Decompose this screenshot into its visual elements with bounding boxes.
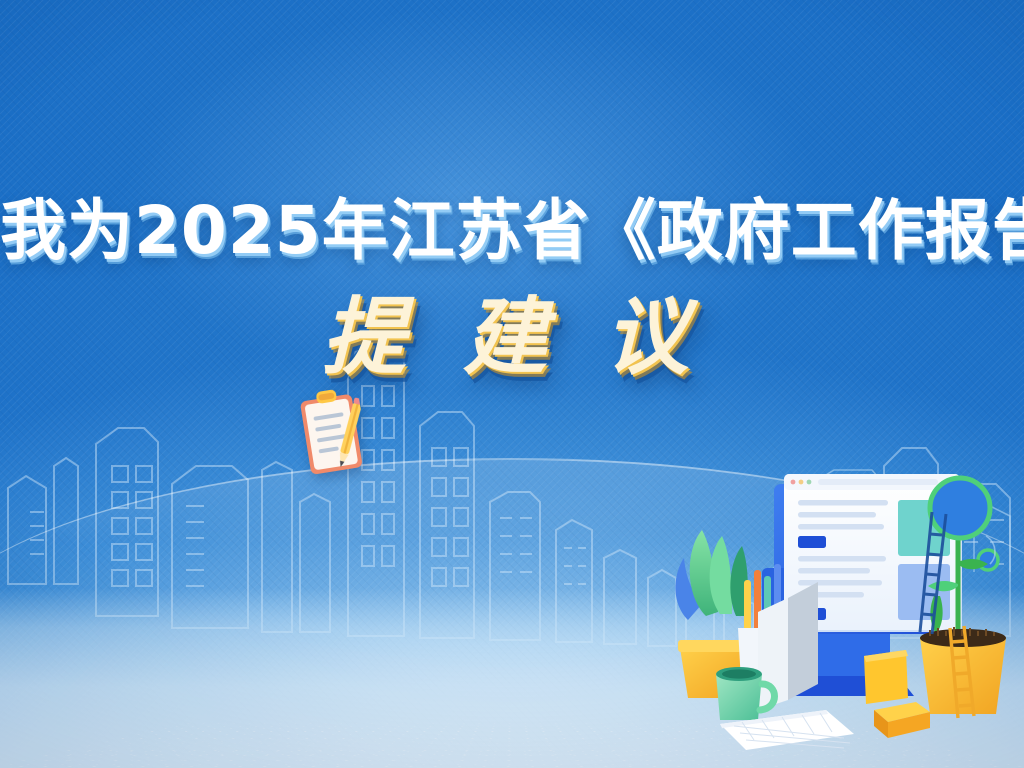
- eraser-block: [874, 702, 930, 738]
- banner-poster: 我为2025年江苏省《政府工作报告》 提 建 议: [0, 0, 1024, 768]
- sticky-note: [864, 650, 908, 704]
- desk-workspace-illustration: [658, 452, 1018, 752]
